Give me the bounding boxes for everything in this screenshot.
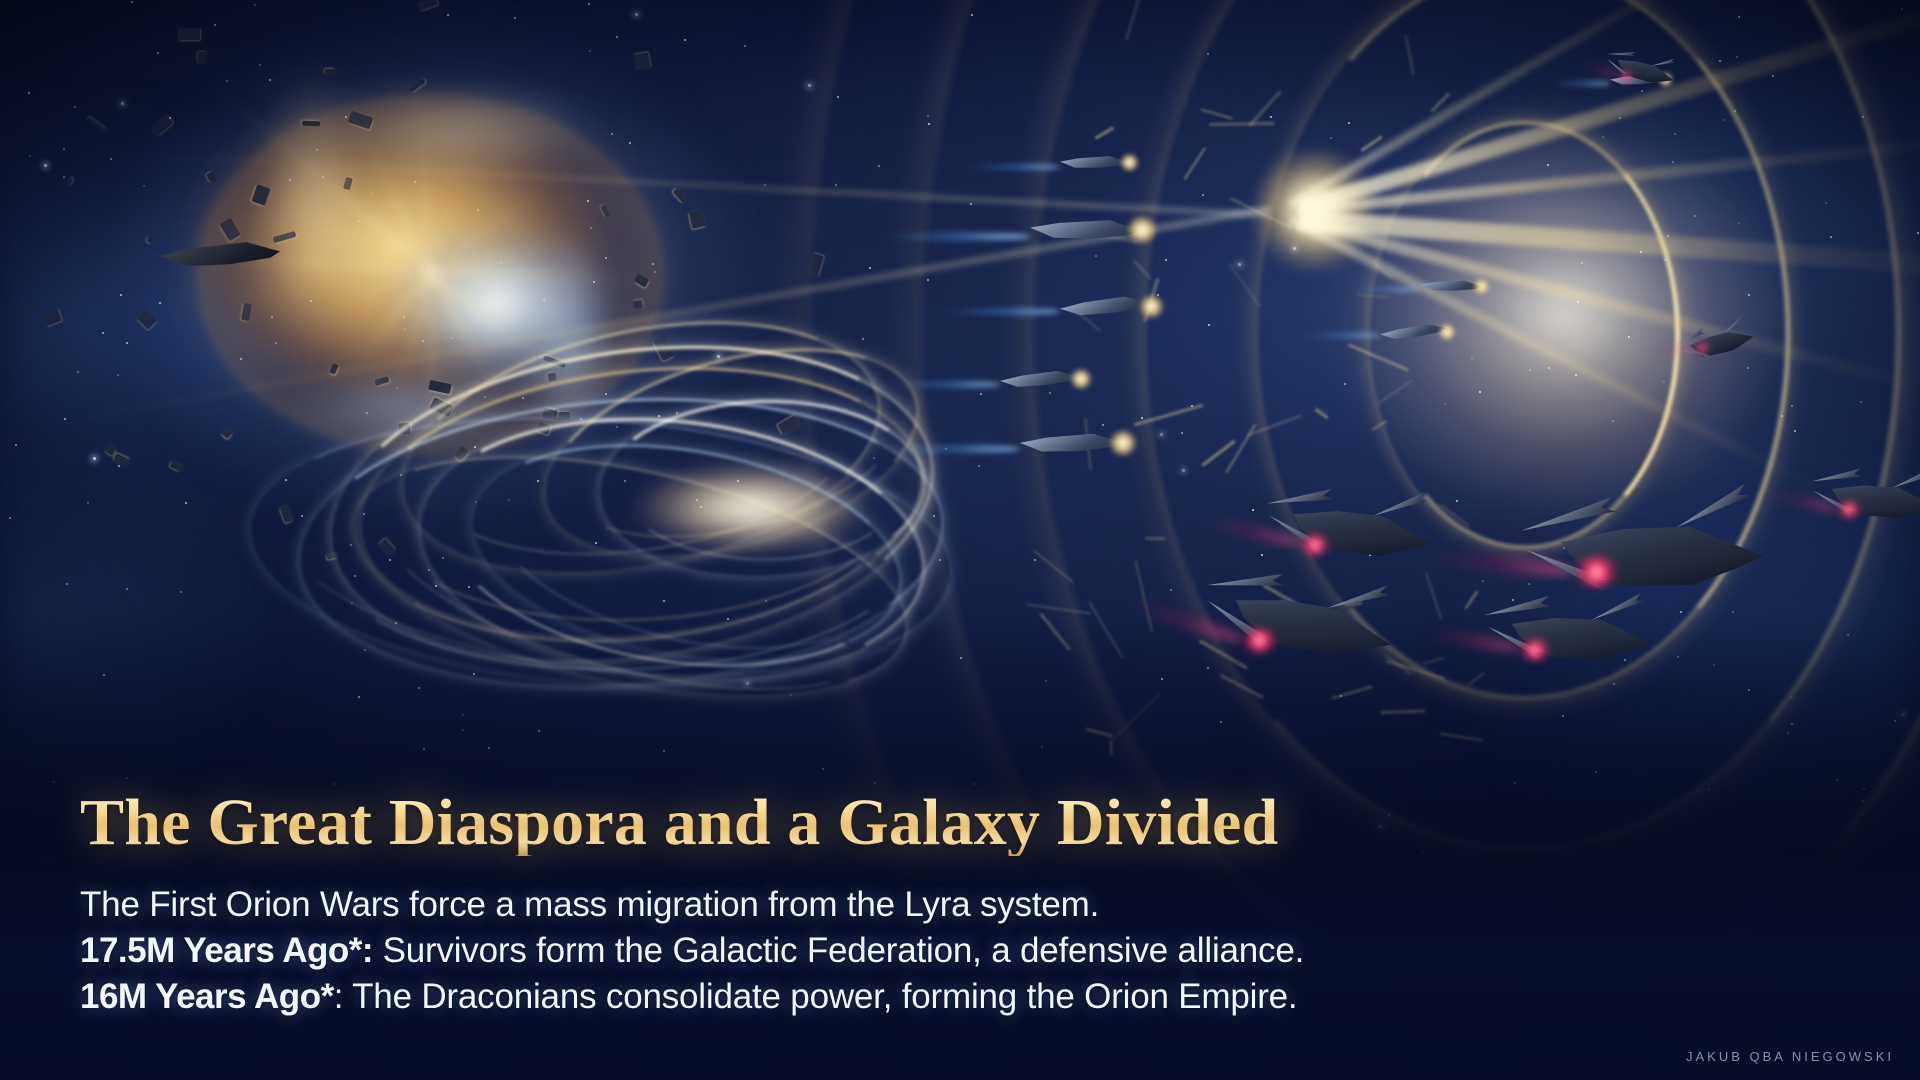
- federation-ship: [1060, 149, 1129, 177]
- star: [180, 591, 182, 593]
- ship-hull: [1020, 424, 1122, 464]
- weapon-flash: [1473, 278, 1490, 295]
- scout-ship-silhouette: [160, 232, 280, 278]
- star: [447, 14, 449, 16]
- illustration-canvas: The Great Diaspora and a Galaxy Divided …: [0, 0, 1920, 1080]
- caption-line-2-text: Survivors form the Galactic Federation, …: [373, 931, 1304, 970]
- weapon-flash: [1109, 429, 1137, 457]
- draconian-engine-glow: [1572, 556, 1621, 588]
- engine-trail: [1350, 287, 1420, 292]
- debris-chunk: [325, 69, 335, 74]
- federation-ship: [1000, 364, 1080, 395]
- weapon-flash: [1438, 323, 1456, 341]
- star: [15, 444, 17, 446]
- federation-ship: [1029, 207, 1141, 253]
- engine-trail: [880, 232, 1030, 241]
- star: [29, 155, 31, 157]
- star: [254, 4, 256, 6]
- star: [63, 176, 65, 178]
- caption-line-3-text: : The Draconians consolidate power, form…: [334, 977, 1298, 1016]
- caption-block: The Great Diaspora and a Galaxy Divided …: [80, 790, 1840, 1020]
- draconian-engine-glow: [1694, 343, 1710, 353]
- star: [74, 106, 76, 108]
- star: [117, 374, 119, 376]
- star: [126, 588, 128, 590]
- ship-hull: [1379, 318, 1446, 346]
- caption-line-2-bold: 17.5M Years Ago*:: [80, 931, 373, 970]
- star: [87, 502, 89, 504]
- star: [110, 158, 112, 160]
- caption-line-1-text: The First Orion Wars force a mass migrat…: [80, 885, 1099, 924]
- debris-chunk: [633, 52, 651, 70]
- star: [588, 3, 590, 5]
- weapon-flash: [1127, 215, 1157, 245]
- engine-trail: [1550, 81, 1610, 86]
- star: [9, 517, 11, 519]
- ship-hull: [1029, 207, 1141, 253]
- weapon-flash: [1139, 294, 1164, 319]
- weapon-flash: [1120, 153, 1139, 172]
- engine-trail: [965, 164, 1060, 170]
- star: [28, 92, 30, 94]
- star: [102, 332, 104, 334]
- star: [635, 13, 638, 16]
- draconian-engine-glow: [1298, 534, 1332, 556]
- star: [131, 1, 133, 3]
- draconian-engine-glow: [1836, 501, 1862, 518]
- caption-line-2: 17.5M Years Ago*: Survivors form the Gal…: [80, 928, 1840, 974]
- federation-ship: [1060, 289, 1151, 325]
- star: [808, 84, 811, 87]
- debris-chunk: [198, 52, 208, 64]
- caption-line-3-bold: 16M Years Ago*: [80, 977, 334, 1016]
- federation-ship: [1379, 318, 1446, 346]
- caption-line-1: The First Orion Wars force a mass migrat…: [80, 882, 1840, 928]
- ship-hull: [160, 232, 280, 278]
- weapon-flash: [1070, 368, 1092, 390]
- debris-chunk: [302, 121, 320, 127]
- draconian-engine-glow: [1619, 72, 1633, 81]
- draconian-engine-glow: [1240, 628, 1279, 653]
- star: [77, 371, 79, 373]
- star: [514, 17, 516, 19]
- draconian-engine-glow: [1518, 639, 1552, 661]
- federation-ship: [1020, 424, 1122, 464]
- ship-hull: [1060, 289, 1151, 325]
- debris-chunk: [178, 28, 200, 40]
- ship-hull: [1000, 364, 1080, 395]
- ship-hull: [1060, 149, 1129, 177]
- artist-watermark: JAKUB QBA NIEGOWSKI: [1686, 1049, 1894, 1064]
- caption-line-3: 16M Years Ago*: The Draconians consolida…: [80, 974, 1840, 1020]
- star: [44, 164, 47, 167]
- page-title: The Great Diaspora and a Galaxy Divided: [80, 790, 1840, 856]
- star: [93, 457, 96, 460]
- star: [66, 583, 68, 585]
- lattice-crack: [1145, 537, 1165, 540]
